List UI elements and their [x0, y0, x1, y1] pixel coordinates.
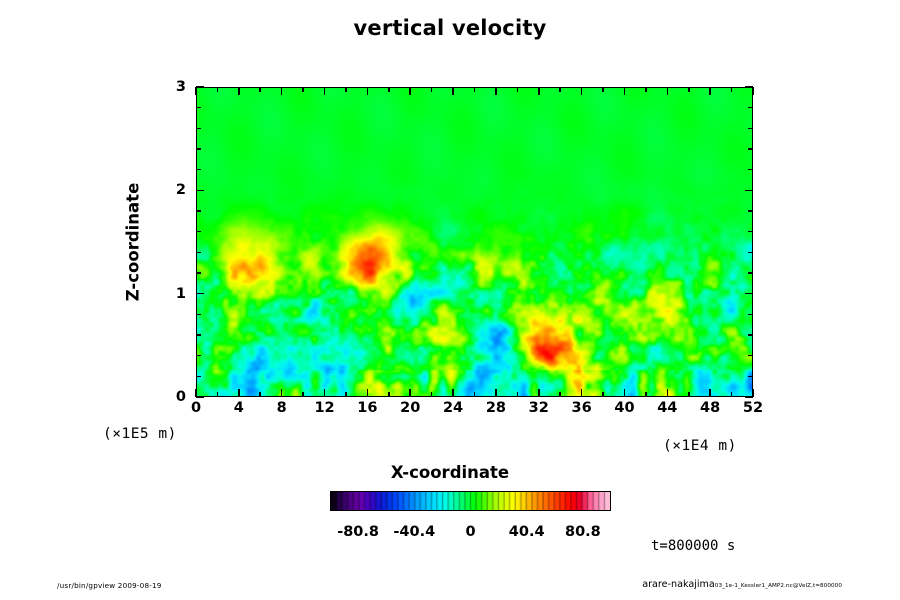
- y-tick: [196, 190, 204, 192]
- x-tick: [538, 389, 540, 397]
- x-tick: [474, 392, 476, 397]
- x-tick: [688, 392, 690, 397]
- x-tick-top: [259, 87, 261, 92]
- time-annotation: t=800000 s: [651, 538, 735, 554]
- page-title: vertical velocity: [0, 16, 900, 40]
- x-tick-top: [345, 87, 347, 92]
- y-tick-label: 2: [176, 182, 186, 198]
- x-tick-label: 8: [277, 400, 287, 416]
- x-tick: [495, 389, 497, 397]
- y-tick: [196, 314, 201, 316]
- x-tick-top: [688, 87, 690, 92]
- x-tick: [217, 392, 219, 397]
- x-tick-label: 44: [657, 400, 677, 416]
- x-tick-top: [495, 87, 497, 95]
- y-tick: [196, 148, 201, 150]
- x-tick: [302, 392, 304, 397]
- y-tick: [196, 396, 204, 398]
- x-tick-top: [645, 87, 647, 92]
- y-tick: [196, 210, 201, 212]
- y-tick-right: [748, 334, 753, 336]
- y-tick: [196, 272, 201, 274]
- x-tick: [431, 392, 433, 397]
- x-tick: [645, 392, 647, 397]
- x-tick-top: [517, 87, 519, 92]
- y-axis-unit: (×1E5 m): [103, 426, 177, 442]
- x-tick-top: [302, 87, 304, 92]
- x-tick-top: [388, 87, 390, 92]
- x-tick: [624, 389, 626, 397]
- y-tick-right: [745, 86, 753, 88]
- x-tick: [667, 389, 669, 397]
- x-tick: [731, 392, 733, 397]
- y-tick-right: [748, 210, 753, 212]
- x-tick: [324, 389, 326, 397]
- colorbar-gradient: [330, 491, 611, 511]
- y-tick-label: 3: [176, 79, 186, 95]
- x-tick-top: [324, 87, 326, 95]
- x-tick-top: [367, 87, 369, 95]
- x-tick-label: 20: [400, 400, 420, 416]
- x-tick: [409, 389, 411, 397]
- y-tick-right: [748, 128, 753, 130]
- x-tick-label: 4: [234, 400, 244, 416]
- x-tick-label: 48: [700, 400, 720, 416]
- x-tick-top: [474, 87, 476, 92]
- x-tick-top: [238, 87, 240, 95]
- x-tick-label: 16: [357, 400, 377, 416]
- x-tick-label: 28: [486, 400, 506, 416]
- x-tick-top: [624, 87, 626, 95]
- x-tick-top: [217, 87, 219, 92]
- y-tick-right: [748, 355, 753, 357]
- x-tick-label: 24: [443, 400, 463, 416]
- x-tick-top: [452, 87, 454, 95]
- x-tick-label: 52: [743, 400, 763, 416]
- y-tick: [196, 231, 201, 233]
- x-tick-top: [195, 87, 197, 95]
- colorbar-tick-label: -40.4: [393, 524, 435, 540]
- colorbar-tick-label: 0: [465, 524, 475, 540]
- y-tick: [196, 355, 201, 357]
- y-tick-right: [748, 169, 753, 171]
- footer-command: /usr/bin/gpview 2009-08-19: [57, 581, 162, 590]
- colorbar-tick-label: 40.4: [509, 524, 545, 540]
- x-tick: [367, 389, 369, 397]
- colorbar-tick-label: 80.8: [565, 524, 601, 540]
- x-tick: [517, 392, 519, 397]
- x-axis-title: X-coordinate: [0, 463, 900, 482]
- x-tick-label: 36: [572, 400, 592, 416]
- y-tick-right: [745, 293, 753, 295]
- x-tick: [709, 389, 711, 397]
- x-axis-unit: (×1E4 m): [663, 438, 737, 454]
- x-tick: [388, 392, 390, 397]
- footer-hostname: arare-nakajima: [642, 579, 715, 590]
- y-tick: [196, 293, 204, 295]
- x-tick-top: [409, 87, 411, 95]
- x-tick: [345, 392, 347, 397]
- colorbar: [330, 491, 611, 511]
- x-tick-label: 0: [191, 400, 201, 416]
- y-tick-right: [748, 252, 753, 254]
- y-tick-right: [745, 190, 753, 192]
- x-tick-top: [667, 87, 669, 95]
- y-tick-right: [748, 107, 753, 109]
- x-tick: [581, 389, 583, 397]
- x-tick-top: [581, 87, 583, 95]
- x-tick: [452, 389, 454, 397]
- y-axis-title: Z-coordinate: [124, 183, 143, 302]
- y-tick-label: 0: [176, 389, 186, 405]
- y-tick-right: [748, 148, 753, 150]
- x-tick: [281, 389, 283, 397]
- x-tick-top: [281, 87, 283, 95]
- x-tick-top: [538, 87, 540, 95]
- y-tick-label: 1: [176, 286, 186, 302]
- footer-source-file: 03_1e-1_Kessler1_AMP2.nc@VelZ,t=800000: [715, 583, 842, 589]
- footer-source: arare-nakajima03_1e-1_Kessler1_AMP2.nc@V…: [642, 579, 842, 590]
- y-tick-right: [748, 272, 753, 274]
- plot-area: [196, 87, 753, 397]
- y-tick: [196, 169, 201, 171]
- x-tick: [238, 389, 240, 397]
- colorbar-tick-label: -80.8: [337, 524, 379, 540]
- x-tick-top: [559, 87, 561, 92]
- x-tick-label: 12: [314, 400, 334, 416]
- y-tick: [196, 334, 201, 336]
- x-tick: [602, 392, 604, 397]
- y-tick: [196, 86, 204, 88]
- x-tick: [259, 392, 261, 397]
- x-tick: [559, 392, 561, 397]
- y-tick: [196, 252, 201, 254]
- y-tick-right: [748, 314, 753, 316]
- x-tick-label: 32: [529, 400, 549, 416]
- x-tick-top: [731, 87, 733, 92]
- heatmap-field: [197, 88, 752, 396]
- x-tick-top: [602, 87, 604, 92]
- x-tick-top: [431, 87, 433, 92]
- y-tick-right: [748, 376, 753, 378]
- x-tick-top: [752, 87, 754, 95]
- y-tick: [196, 107, 201, 109]
- x-tick-label: 40: [614, 400, 634, 416]
- y-tick: [196, 376, 201, 378]
- y-tick-right: [745, 396, 753, 398]
- x-tick-top: [709, 87, 711, 95]
- y-tick-right: [748, 231, 753, 233]
- y-tick: [196, 128, 201, 130]
